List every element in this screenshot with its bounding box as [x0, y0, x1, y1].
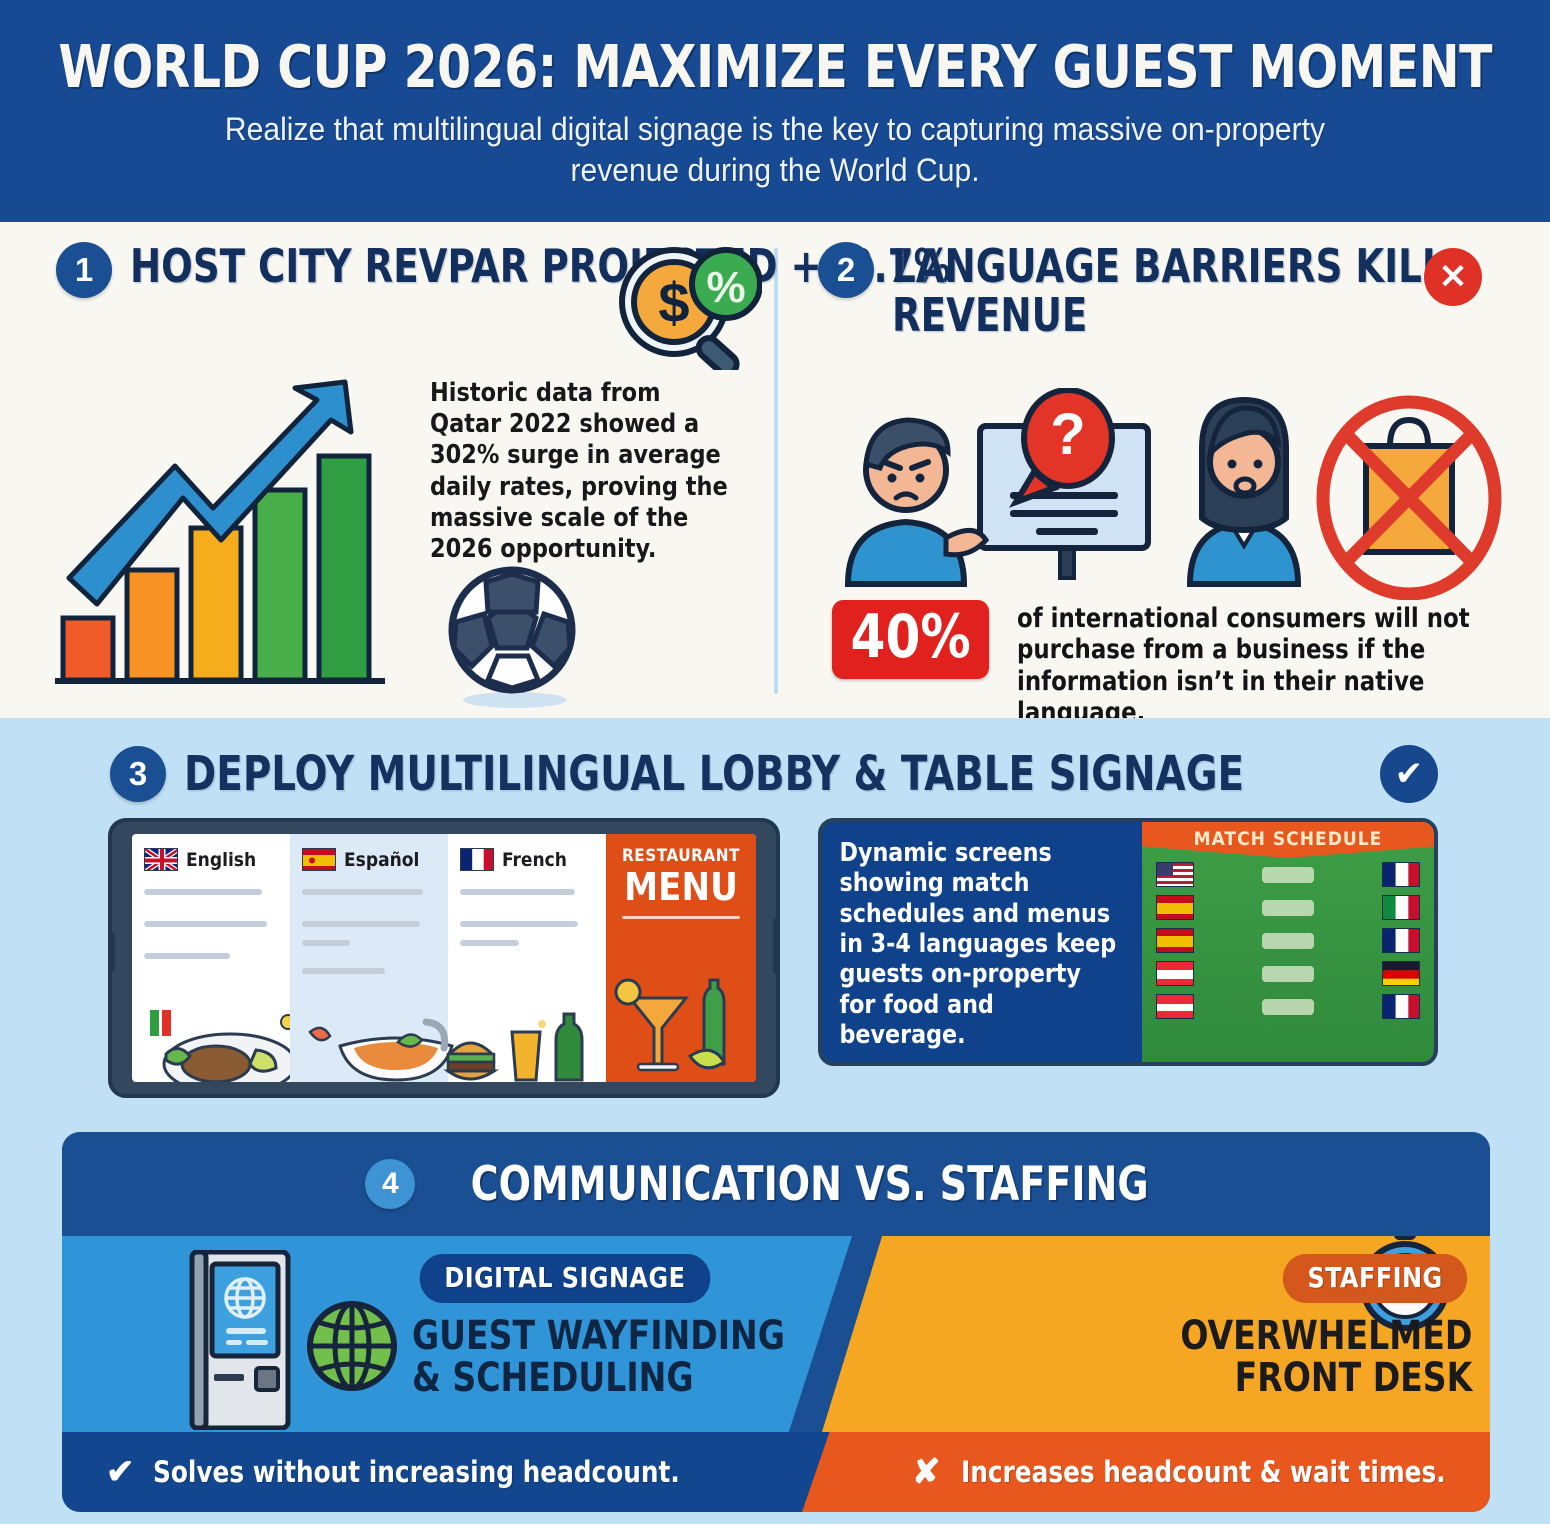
match-score-placeholder — [1262, 966, 1314, 982]
france-flag-icon — [1382, 862, 1420, 887]
cocktail-icon — [612, 972, 752, 1082]
stat-description: of international consumers will not purc… — [1017, 600, 1505, 728]
digital-signage-panel: DIGITAL SIGNAGE GUEST WAYFINDING & SCHED… — [62, 1236, 852, 1432]
france-flag-icon — [460, 848, 494, 871]
language-name: Español — [344, 849, 419, 871]
uk-flag-icon — [144, 848, 178, 871]
section-4-number: 4 — [365, 1159, 415, 1209]
globe-icon — [310, 1304, 394, 1388]
section-4-heading: 4 COMMUNICATION VS. STAFFING — [62, 1132, 1490, 1236]
austria-flag-icon — [1156, 994, 1194, 1019]
text-line — [302, 889, 423, 895]
text-line — [302, 921, 420, 927]
digital-signage-headline: GUEST WAYFINDING & SCHEDULING — [412, 1315, 785, 1400]
svg-text:$: $ — [658, 271, 689, 334]
restaurant-menu-panel: RESTAURANT MENU — [606, 834, 756, 1082]
kiosk-icon — [172, 1250, 402, 1430]
staffing-panel: STAFFING OVERWHELMED FRONT DESK — [822, 1236, 1490, 1432]
language-name: English — [186, 849, 256, 871]
text-line — [302, 940, 350, 946]
revpar-bar-chart — [45, 378, 420, 696]
no-shopping-bag-icon — [1323, 402, 1495, 594]
text-line — [460, 940, 519, 946]
france-flag-icon — [1382, 928, 1420, 953]
text-line — [460, 889, 575, 895]
section-4: 4 COMMUNICATION VS. STAFFING — [62, 1132, 1490, 1512]
burger-drinks-icon — [432, 1010, 602, 1082]
match-row — [1142, 924, 1434, 957]
italy-flag-icon — [1382, 895, 1420, 920]
tablet-screen: English — [132, 834, 756, 1082]
match-row — [1142, 957, 1434, 990]
tablet-button-right — [773, 918, 780, 974]
text-line — [144, 889, 262, 895]
bar-2 — [127, 570, 177, 680]
spain-flag-icon — [1156, 895, 1194, 920]
section-4-title: COMMUNICATION VS. STAFFING — [471, 1157, 1149, 1212]
confused-woman-icon — [1190, 400, 1298, 584]
france-flag-icon — [1382, 994, 1420, 1019]
section-3-number: 3 — [110, 746, 166, 802]
check-icon: ✔ — [106, 1452, 135, 1492]
section-2-title: LANGUAGE BARRIERS KILL REVENUE — [892, 242, 1484, 340]
digital-signage-footer-text: Solves without increasing headcount. — [153, 1455, 680, 1489]
language-name: French — [502, 849, 567, 871]
match-schedule-card: Dynamic screens showing match schedules … — [818, 818, 1438, 1066]
match-score-placeholder — [1262, 900, 1314, 916]
header-banner: WORLD CUP 2026: MAXIMIZE EVERY GUEST MOM… — [0, 0, 1550, 222]
digital-signage-pill: DIGITAL SIGNAGE — [420, 1254, 711, 1303]
language-column-french: French — [448, 834, 606, 1082]
confused-man-icon — [848, 420, 986, 584]
menu-divider — [622, 916, 740, 919]
austria-flag-icon — [1156, 961, 1194, 986]
language-header: English — [144, 848, 278, 871]
menu-panel-small: RESTAURANT — [616, 846, 746, 866]
page-title: WORLD CUP 2026: MAXIMIZE EVERY GUEST MOM… — [58, 37, 1492, 97]
stat-row: 40% of international consumers will not … — [826, 600, 1526, 728]
dollar-magnifier-icon: $ % — [612, 242, 762, 370]
x-circle-icon: ✕ — [1424, 248, 1482, 306]
vertical-divider — [774, 248, 778, 694]
section-2-number: 2 — [818, 242, 874, 298]
match-score-placeholder — [1262, 933, 1314, 949]
check-circle-icon: ✔ — [1380, 745, 1438, 803]
language-barrier-illustration: ? — [838, 388, 1528, 600]
x-icon: ✘ — [912, 1452, 941, 1492]
language-header: Español — [302, 848, 436, 871]
svg-text:?: ? — [1050, 402, 1085, 467]
infographic-page: WORLD CUP 2026: MAXIMIZE EVERY GUEST MOM… — [0, 0, 1550, 1524]
section-1-body: Historic data from Qatar 2022 showed a 3… — [430, 378, 735, 565]
match-schedule-screen: MATCH SCHEDULE — [1142, 822, 1434, 1062]
bar-4 — [255, 490, 305, 680]
text-line — [302, 968, 385, 974]
stat-badge: 40% — [832, 600, 989, 679]
section-4-body: DIGITAL SIGNAGE GUEST WAYFINDING & SCHED… — [62, 1236, 1490, 1512]
bar-3 — [191, 528, 241, 680]
language-column-spanish: Español — [290, 834, 448, 1082]
staffing-footer: ✘ Increases headcount & wait times. — [802, 1432, 1490, 1512]
text-line — [144, 953, 230, 959]
tablet-button-left — [108, 932, 115, 972]
staffing-pill: STAFFING — [1283, 1254, 1467, 1303]
language-header: French — [460, 848, 594, 871]
bar-5 — [319, 456, 369, 680]
text-line — [144, 921, 267, 927]
match-score-placeholder — [1262, 867, 1314, 883]
page-subtitle: Realize that multilingual digital signag… — [220, 109, 1329, 191]
germany-flag-icon — [1382, 961, 1420, 986]
match-row — [1142, 858, 1434, 891]
digital-signage-footer: ✔ Solves without increasing headcount. — [62, 1432, 834, 1512]
usa-flag-icon — [1156, 862, 1194, 887]
digital-signage-text: DIGITAL SIGNAGE GUEST WAYFINDING & SCHED… — [412, 1254, 817, 1400]
percent-icon: % — [692, 250, 760, 318]
bar-1 — [63, 618, 113, 680]
match-row — [1142, 990, 1434, 1023]
svg-text:%: % — [706, 263, 745, 312]
tablet-device: English — [108, 818, 780, 1098]
staffing-footer-text: Increases headcount & wait times. — [961, 1455, 1446, 1489]
section-1-number: 1 — [56, 242, 112, 298]
menu-panel-big: MENU — [616, 868, 746, 906]
match-score-placeholder — [1262, 999, 1314, 1015]
text-line — [460, 921, 578, 927]
staffing-headline: OVERWHELMED FRONT DESK — [1180, 1315, 1472, 1400]
section-3-heading: 3 DEPLOY MULTILINGUAL LOBBY & TABLE SIGN… — [110, 745, 1438, 803]
spain-flag-icon — [1156, 928, 1194, 953]
language-column-english: English — [132, 834, 290, 1082]
section-3-title: DEPLOY MULTILINGUAL LOBBY & TABLE SIGNAG… — [184, 746, 1244, 802]
spain-flag-icon — [302, 848, 336, 871]
soccer-ball-icon — [440, 560, 590, 710]
staffing-text: STAFFING OVERWHELMED FRONT DESK — [1155, 1254, 1472, 1400]
match-schedule-title: MATCH SCHEDULE — [1142, 822, 1434, 858]
card-description: Dynamic screens showing match schedules … — [822, 822, 1132, 1062]
match-row — [1142, 891, 1434, 924]
